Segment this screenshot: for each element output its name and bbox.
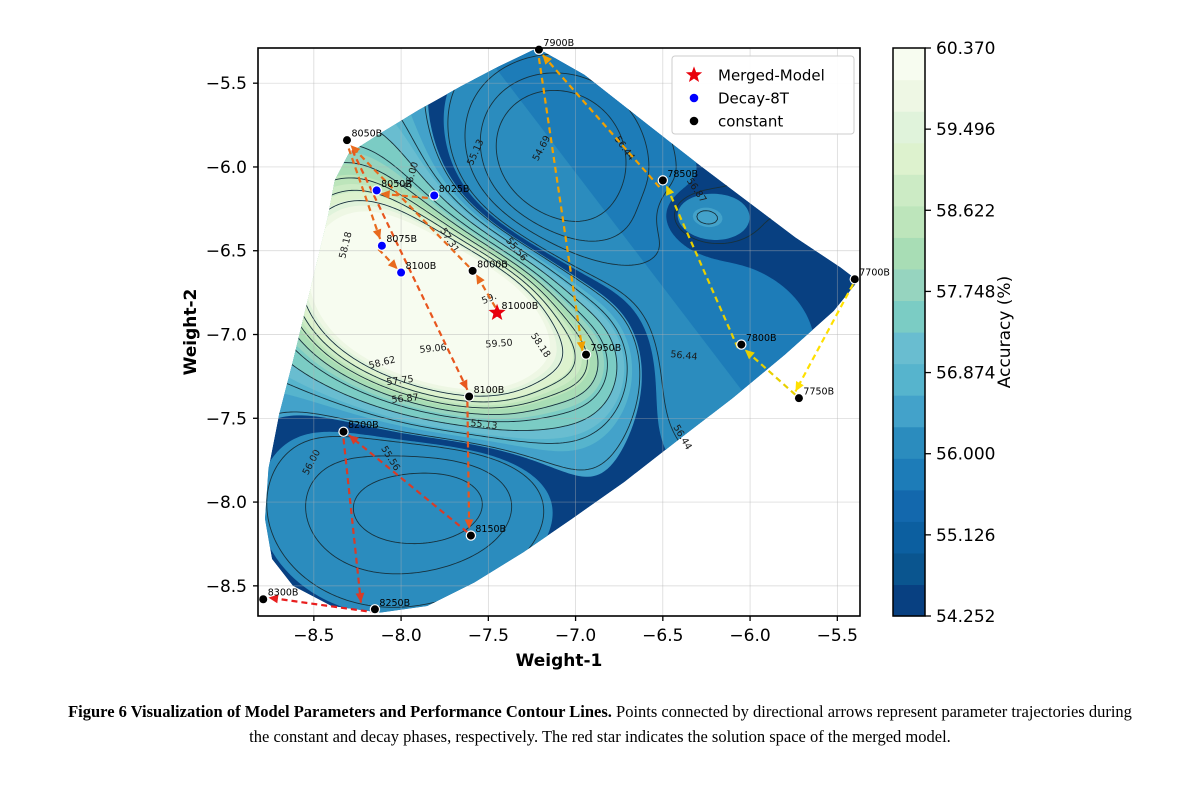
colorbar-tick-label: 56.000 [936,445,995,465]
legend-label: Merged-Model [718,67,825,85]
constant-point[interactable] [795,394,803,402]
decay-point[interactable] [397,269,405,277]
colorbar-segment [893,521,925,553]
constant-point[interactable] [851,275,859,283]
point-label: 8100B [406,261,437,272]
point-label: 7700B [859,268,890,279]
point-label: 8075B [386,234,417,245]
y-tick-label: −6.0 [206,158,247,178]
point-label: 8100B [474,385,505,396]
legend-dot-icon [690,117,699,126]
point-label: 8200B [348,420,379,431]
point-label: 7850B [667,169,698,180]
point-label: 8250B [379,598,410,609]
colorbar-segment [893,269,925,301]
decay-point[interactable] [430,191,438,199]
colorbar-axis-label: Accuracy (%) [995,276,1015,388]
point-label: 8025B [439,184,470,195]
figure-panel: 56.0055.1354.6956.4456.8757.3155.5658.18… [0,0,1200,680]
x-tick-label: −6.0 [729,626,770,646]
y-tick-label: −8.5 [206,577,247,597]
point-label: 8000B [477,259,508,270]
x-tick-label: −6.5 [642,626,683,646]
colorbar-segment [893,174,925,206]
colorbar-segment [893,458,925,490]
x-tick-label: −8.5 [293,626,334,646]
y-axis-label: Weight-2 [181,289,201,376]
constant-point[interactable] [659,176,667,184]
colorbar-segment [893,332,925,364]
colorbar-tick-label: 60.370 [936,39,995,59]
contour-plot: 56.0055.1354.6956.4456.8757.3155.5658.18… [0,0,1200,680]
constant-point[interactable] [469,267,477,275]
y-tick-label: −5.5 [206,74,247,94]
y-tick-label: −6.5 [206,242,247,262]
constant-point[interactable] [467,532,475,540]
point-label: 81000B [502,301,539,312]
x-tick-label: −8.0 [380,626,421,646]
point-label: 7950B [591,343,622,354]
caption-bold: Figure 6 Visualization of Model Paramete… [68,702,612,721]
svg-text:59.50: 59.50 [485,338,513,351]
point-label: 7800B [746,333,777,344]
legend-label: constant [718,113,783,131]
point-label: 8300B [268,588,299,599]
colorbar-segment [893,490,925,522]
constant-point[interactable] [465,393,473,401]
colorbar-tick-label: 55.126 [936,526,995,546]
colorbar-segment [893,553,925,585]
constant-point[interactable] [340,428,348,436]
x-axis-label: Weight-1 [516,651,603,671]
colorbar-segment [893,48,925,80]
constant-point[interactable] [343,136,351,144]
point-label: 8050B [381,179,412,190]
colorbar-tick-label: 56.874 [936,364,995,384]
colorbar-segment [893,80,925,112]
colorbar-segment [893,206,925,238]
y-tick-label: −7.5 [206,409,247,429]
constant-point[interactable] [259,595,267,603]
x-tick-label: −7.0 [555,626,596,646]
point-label: 8050B [351,129,382,140]
constant-point[interactable] [582,351,590,359]
constant-point[interactable] [535,46,543,54]
colorbar-segment [893,364,925,396]
legend: Merged-ModelDecay-8Tconstant [672,56,854,134]
colorbar-segment [893,300,925,332]
decay-point[interactable] [378,242,386,250]
y-tick-label: −8.0 [206,493,247,513]
colorbar-segment [893,111,925,143]
colorbar-tick-label: 59.496 [936,120,995,140]
colorbar-tick-label: 58.622 [936,201,995,221]
legend-dot-icon [690,94,699,103]
constant-point[interactable] [737,341,745,349]
colorbar-segment [893,584,925,616]
decay-point[interactable] [373,186,381,194]
colorbar-segment [893,143,925,175]
legend-label: Decay-8T [718,90,790,108]
colorbar-segment [893,237,925,269]
colorbar-segment [893,427,925,459]
colorbar-tick-label: 54.252 [936,607,995,627]
colorbar-tick-label: 57.748 [936,282,995,302]
x-tick-label: −7.5 [468,626,509,646]
constant-point[interactable] [371,605,379,613]
y-tick-label: −7.0 [206,326,247,346]
figure-caption: Figure 6 Visualization of Model Paramete… [60,700,1140,750]
colorbar-segment [893,395,925,427]
point-label: 7750B [803,387,834,398]
point-label: 8150B [475,524,506,535]
x-tick-label: −5.5 [817,626,858,646]
